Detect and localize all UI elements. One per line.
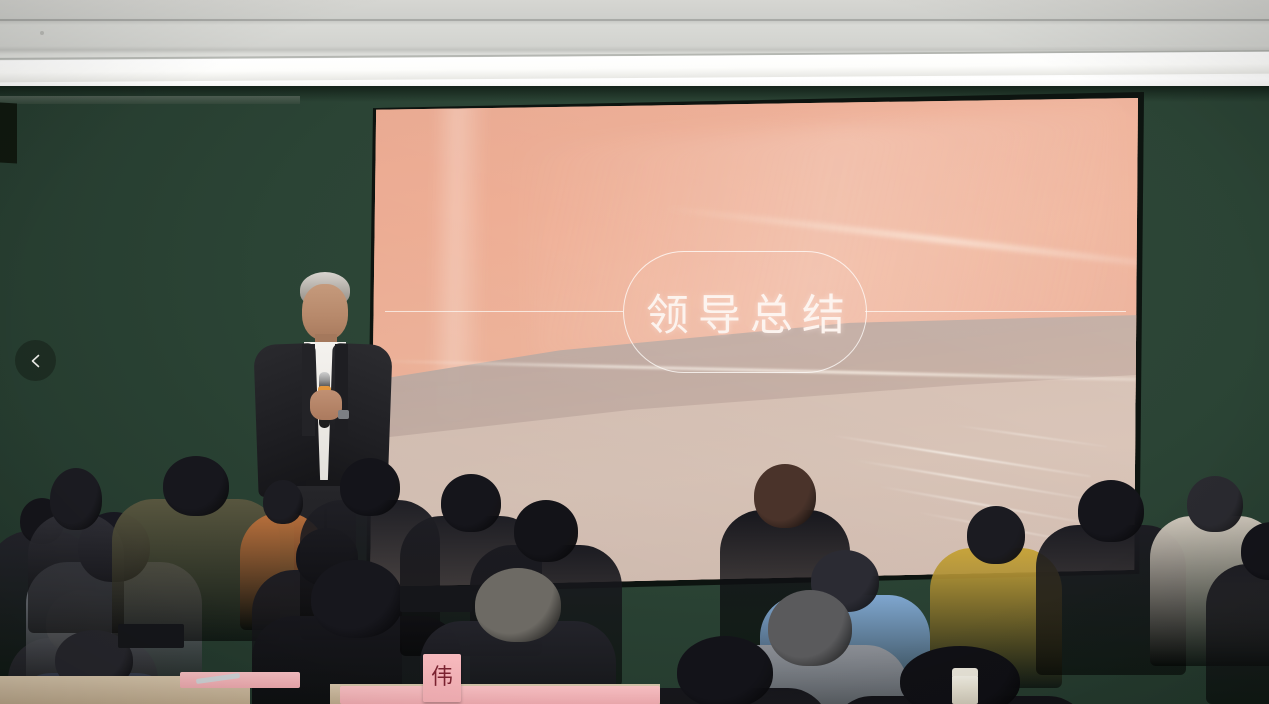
audience	[0, 440, 1269, 704]
ceiling	[0, 0, 1269, 96]
attendee-head	[1078, 480, 1144, 542]
presenter-wristwatch	[338, 410, 349, 419]
ceiling-screw	[40, 31, 44, 35]
presenter-head	[302, 284, 348, 340]
ceiling-seam	[0, 19, 1269, 21]
slide-rule-left	[385, 311, 623, 312]
attendee-head	[163, 456, 229, 516]
attendee-head	[754, 464, 816, 528]
attendee-head	[677, 636, 773, 704]
water-bottle	[952, 674, 978, 704]
attendee-head	[263, 480, 303, 524]
attendee-torso	[28, 513, 124, 633]
laptop	[400, 586, 472, 612]
attendee-head	[967, 506, 1025, 564]
chevron-left-icon	[28, 353, 44, 369]
pink-document-center	[340, 686, 660, 704]
wall-ledge	[0, 96, 300, 104]
previous-image-button[interactable]	[15, 340, 56, 381]
wall-mounted-speaker	[0, 103, 17, 164]
attendee-long-hair-left	[28, 468, 124, 650]
attendee-far-right-dark	[1206, 522, 1269, 704]
attendee-head	[311, 560, 403, 638]
slide-title-pill: 领导总结	[623, 251, 867, 373]
attendee-torso	[1206, 564, 1269, 704]
attendee-head	[475, 568, 561, 642]
slide-title: 领导总结	[637, 281, 854, 343]
photo-viewer: 领导总结 伟	[0, 0, 1269, 704]
attendee-head	[50, 468, 102, 530]
water-bottle-cap	[952, 668, 978, 676]
name-placard: 伟	[423, 654, 461, 702]
attendee-head	[514, 500, 578, 562]
slide-rule-right	[865, 311, 1126, 312]
attendee-head	[340, 458, 400, 516]
laptop-left	[118, 624, 184, 648]
name-placard-text: 伟	[431, 667, 453, 689]
